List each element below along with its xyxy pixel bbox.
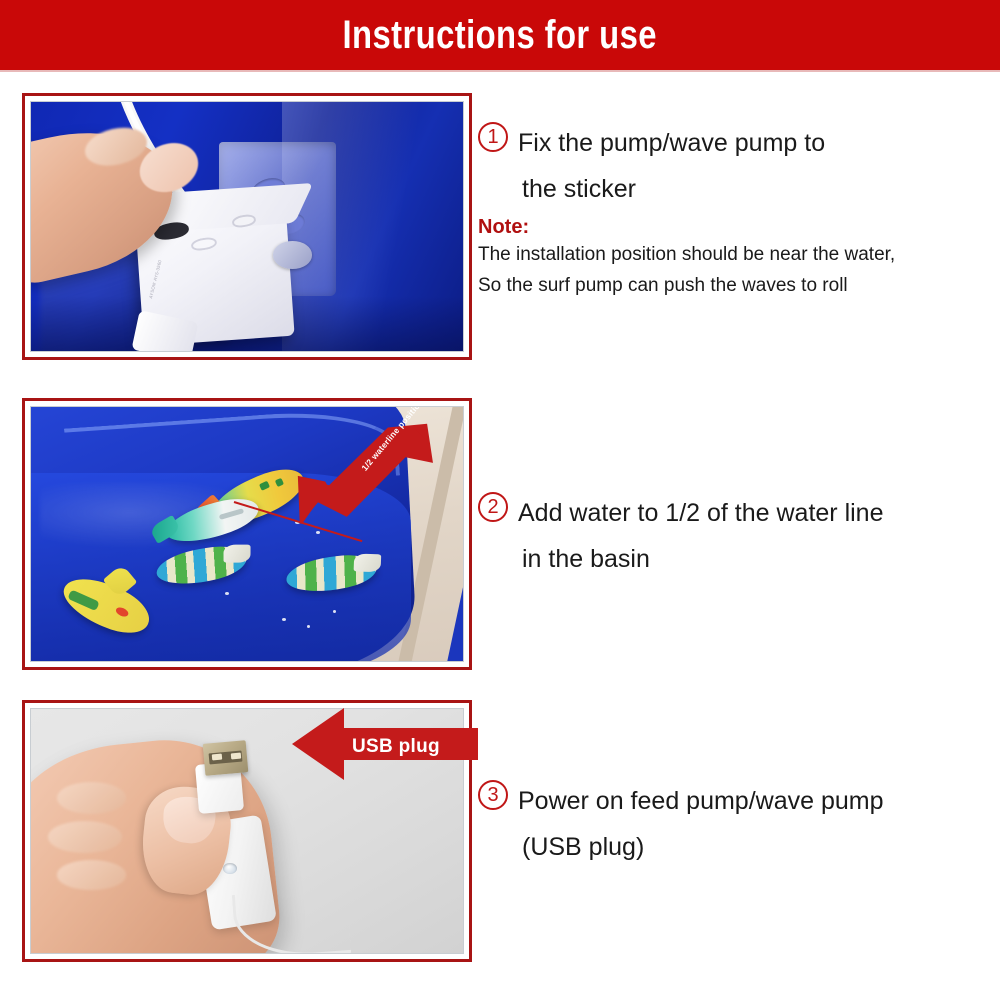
step-2-heading: 2 Add water to 1/2 of the water line [478,490,990,536]
step-1-line-1: Fix the pump/wave pump to [518,120,825,166]
step-1-line-2: the sticker [478,166,990,212]
waterline-arrow: 1/2 waterline position [290,420,437,532]
water-droplet [282,618,286,621]
usb-plug-contact [230,753,240,760]
knuckle [57,782,126,814]
knuckle [57,860,126,889]
step-2-line-2: in the basin [478,536,990,582]
waterline-arrow-icon [290,420,437,532]
step-3-text-block: 3 Power on feed pump/wave pump (USB plug… [478,778,990,870]
page-header-banner: Instructions for use [0,0,1000,70]
step-1-photo-frame: AYSON' AYS-3560 [30,101,464,352]
step-1-number-icon: 1 [478,122,508,152]
step-3-line-1: Power on feed pump/wave pump [518,778,884,824]
step-3-line-2: (USB plug) [478,824,990,870]
step-2-photo-panel: 1/2 waterline position [22,398,472,670]
step-1-note-line-2: So the surf pump can push the waves to r… [478,270,990,301]
step-2-line-1: Add water to 1/2 of the water line [518,490,884,536]
step-2-text-block: 2 Add water to 1/2 of the water line in … [478,490,990,582]
step-1-text-block: 1 Fix the pump/wave pump to the sticker … [478,120,990,301]
page-title: Instructions for use [343,15,657,55]
step-1-note-line-1: The installation position should be near… [478,239,990,270]
pump-suction-cup [273,241,312,268]
instructions-page: Instructions for use [0,0,1000,1000]
step-1-heading: 1 Fix the pump/wave pump to [478,120,990,166]
step-3-heading: 3 Power on feed pump/wave pump [478,778,990,824]
step-3-number-icon: 3 [478,780,508,810]
step-1-photo-panel: AYSON' AYS-3560 [22,93,472,360]
header-underline [0,70,1000,72]
pump-attached-to-basin-wall-photo: AYSON' AYS-3560 [31,102,463,351]
basin-with-toy-fish-photo: 1/2 waterline position [31,407,463,661]
step-2-number-icon: 2 [478,492,508,522]
usb-plug-arrow-label: USB plug [352,736,440,758]
knuckle [48,821,121,853]
step-2-photo-frame: 1/2 waterline position [30,406,464,662]
step-1-note-label: Note: [478,216,990,239]
